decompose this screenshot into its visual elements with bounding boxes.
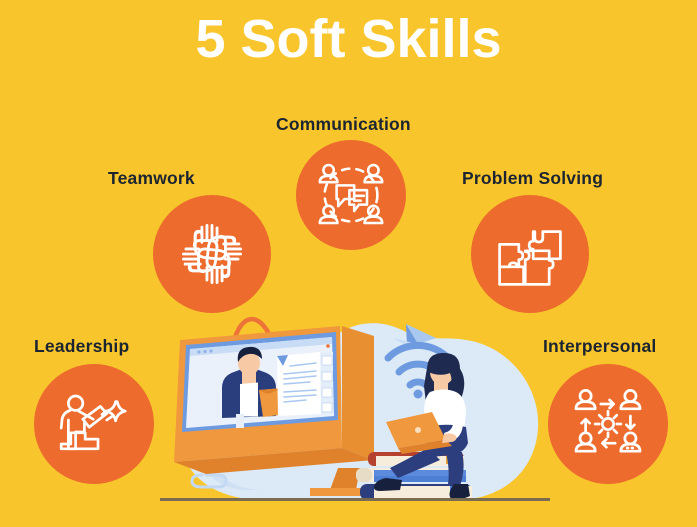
skill-badge-interpersonal[interactable] <box>548 364 668 484</box>
online-learning-illustration <box>160 300 550 522</box>
page-title: 5 Soft Skills <box>0 8 697 70</box>
puzzle-pieces-icon <box>490 214 570 294</box>
skill-item-leadership[interactable]: Leadership <box>34 336 194 496</box>
skill-item-teamwork[interactable]: Teamwork <box>108 168 278 328</box>
skill-label-teamwork: Teamwork <box>108 168 195 189</box>
skill-item-communication[interactable]: Communication <box>276 114 476 274</box>
ground-line <box>160 498 550 501</box>
skill-label-interpersonal: Interpersonal <box>543 336 656 357</box>
skill-label-problem-solving: Problem Solving <box>462 168 603 189</box>
people-speech-bubbles-network-icon <box>311 155 391 235</box>
skill-badge-communication[interactable] <box>296 140 406 250</box>
chat-list-panel <box>321 344 333 414</box>
skill-badge-teamwork[interactable] <box>153 195 271 313</box>
four-hands-teamwork-icon <box>170 212 254 296</box>
people-arrows-gear-icon <box>568 384 648 464</box>
skill-badge-problem-solving[interactable] <box>471 195 589 313</box>
infographic-canvas: 5 Soft Skills <box>0 0 697 522</box>
skill-item-interpersonal[interactable]: Interpersonal <box>543 336 697 496</box>
skill-item-problem-solving[interactable]: Problem Solving <box>462 168 642 328</box>
skill-label-communication: Communication <box>276 114 411 135</box>
person-on-podium-reaching-star-icon <box>54 384 134 464</box>
document-page <box>277 352 321 416</box>
skill-badge-leadership[interactable] <box>34 364 154 484</box>
skill-label-leadership: Leadership <box>34 336 129 357</box>
wifi-dot <box>414 390 423 399</box>
